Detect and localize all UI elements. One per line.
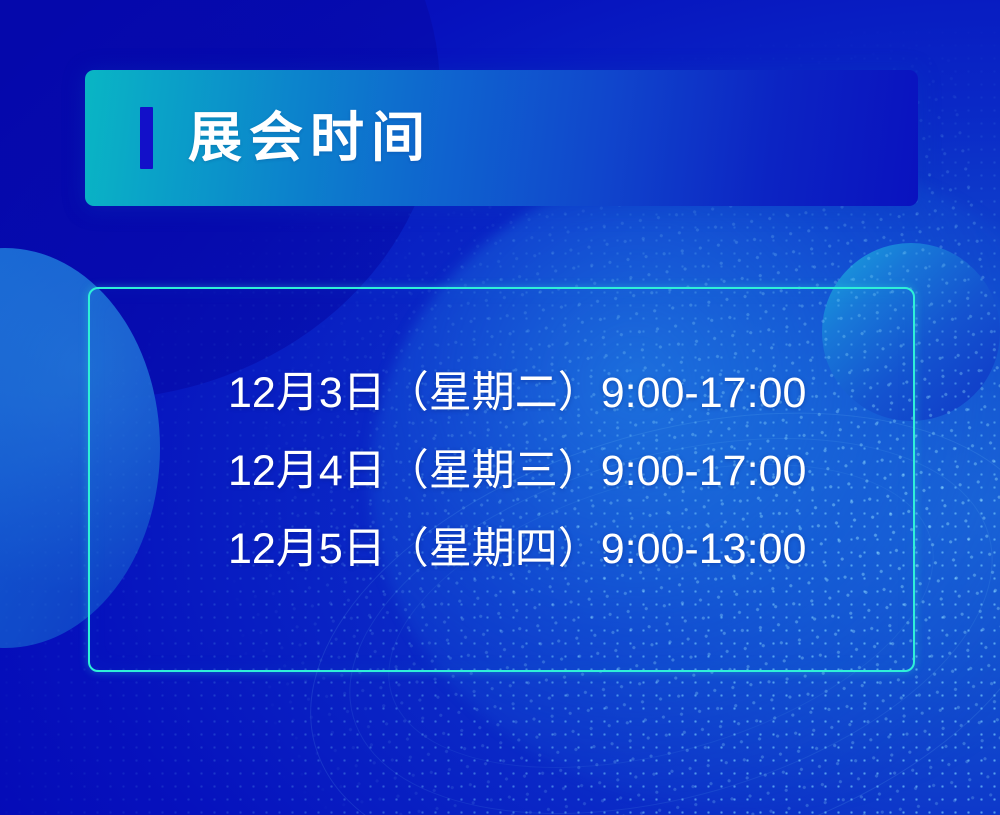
schedule-line: 12月5日（星期四）9:00-13:00 bbox=[228, 528, 788, 571]
exhibition-time-poster: 展会时间 12月3日（星期二）9:00-17:00 12月4日（星期三）9:00… bbox=[0, 0, 1000, 815]
schedule-list: 12月3日（星期二）9:00-17:00 12月4日（星期三）9:00-17:0… bbox=[228, 372, 788, 571]
title-accent-bar-icon bbox=[140, 107, 153, 169]
schedule-line: 12月4日（星期三）9:00-17:00 bbox=[228, 450, 788, 493]
page-title: 展会时间 bbox=[188, 111, 432, 165]
schedule-line: 12月3日（星期二）9:00-17:00 bbox=[228, 372, 788, 415]
title-banner: 展会时间 bbox=[85, 70, 918, 206]
